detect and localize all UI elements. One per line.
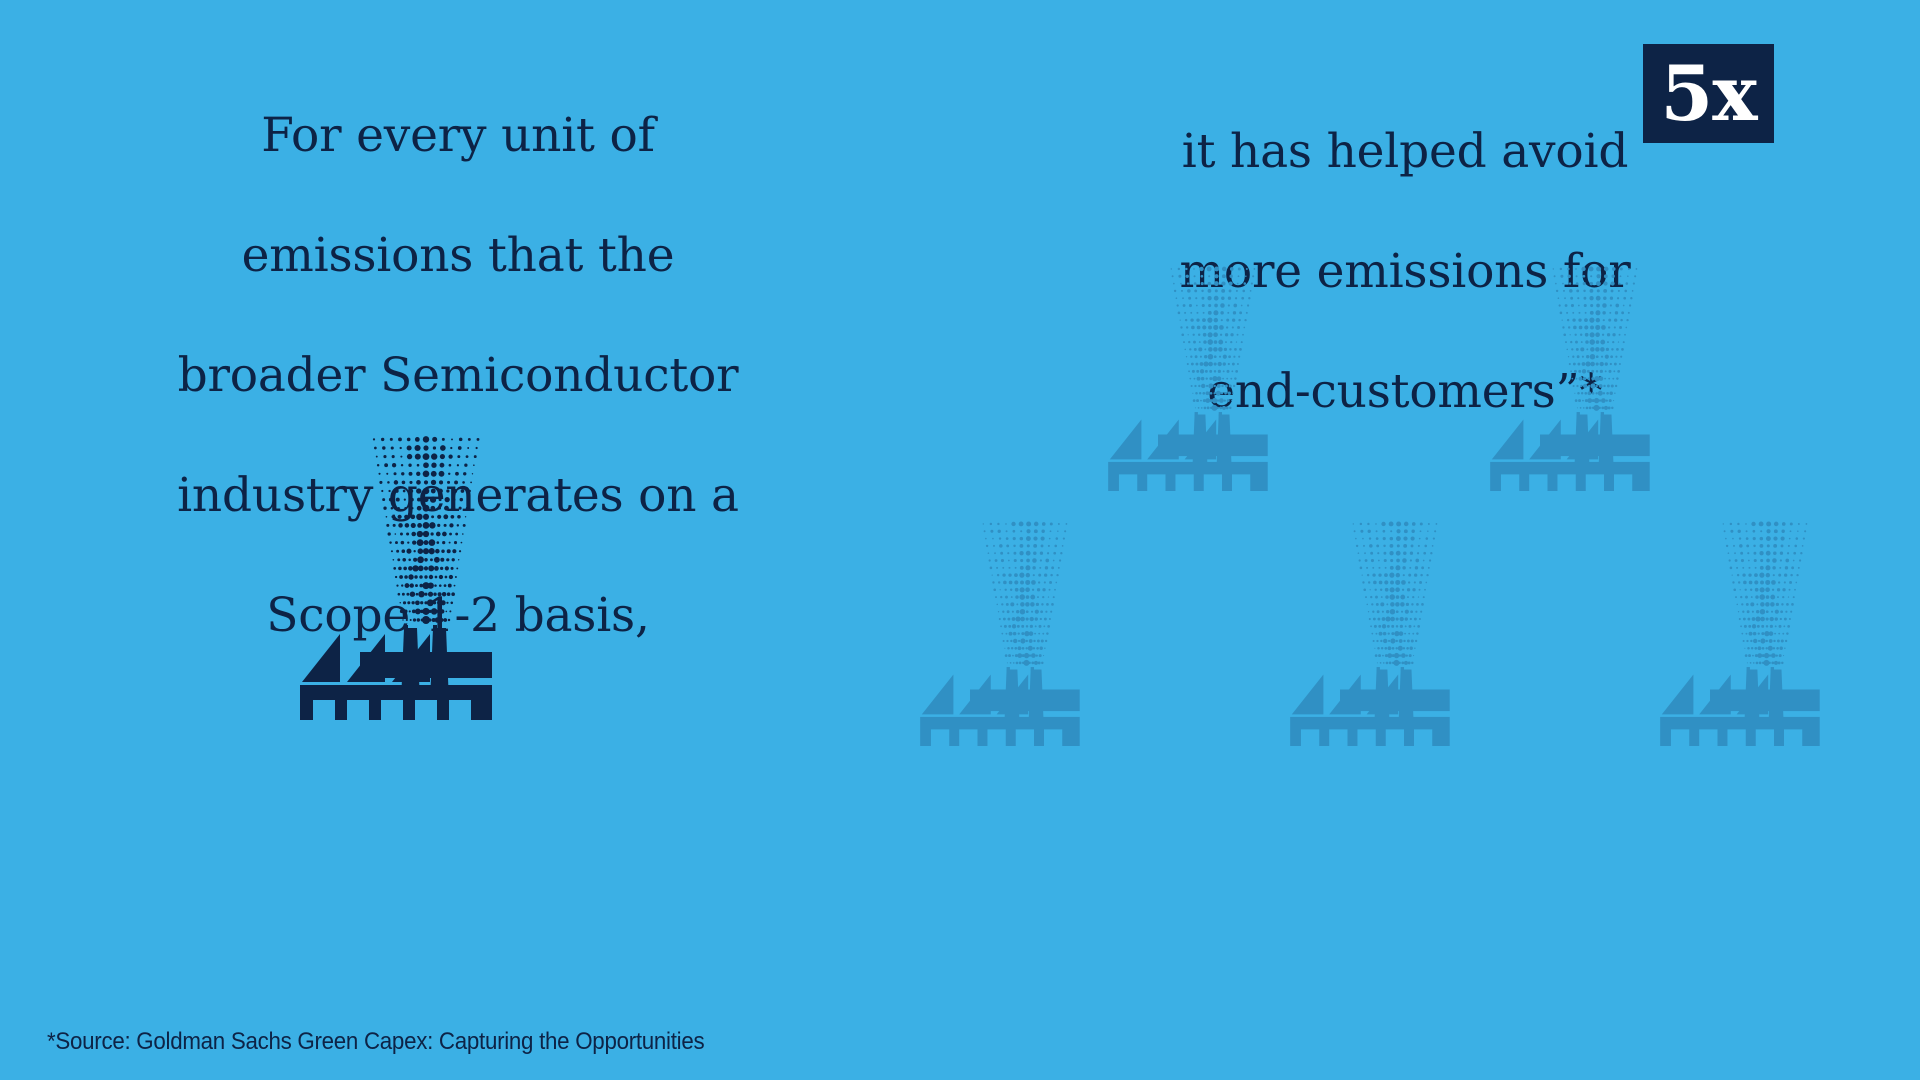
headline-left-line-2: emissions that the (118, 226, 798, 286)
multiplier-badge-5x: 5x (1643, 44, 1774, 143)
factory-icon-light-svg (1290, 505, 1523, 746)
headline-left-line-1: For every unit of (118, 106, 798, 166)
factory-icon-light-1 (1108, 250, 1341, 491)
factory-icon-light-3 (920, 505, 1153, 746)
factory-icon-light-2 (1490, 250, 1723, 491)
headline-right-line-1: it has helped avoid (1075, 122, 1735, 182)
factory-icon-light-svg (1660, 505, 1893, 746)
factory-icon-light-4 (1290, 505, 1523, 746)
smoke-dots-icon (1171, 266, 1256, 410)
smoke-dots-icon (1553, 266, 1638, 410)
smoke-dots-icon (1353, 521, 1438, 665)
smoke-dots-icon (1723, 521, 1808, 665)
headline-left-line-3: broader Semiconductor (118, 346, 798, 406)
factory-icon-dark (300, 430, 580, 720)
factory-icon-dark-svg (300, 430, 580, 720)
factory-icon-light-svg (920, 505, 1153, 746)
infographic-canvas: For every unit of emissions that the bro… (0, 0, 1920, 1080)
factory-icon-light-svg (1490, 250, 1723, 491)
factory-icon-light-5 (1660, 505, 1893, 746)
smoke-dots-icon (983, 521, 1068, 665)
factory-icon-light-svg (1108, 250, 1341, 491)
source-footnote: *Source: Goldman Sachs Green Capex: Capt… (47, 1028, 704, 1056)
smoke-dots-icon (373, 436, 480, 624)
